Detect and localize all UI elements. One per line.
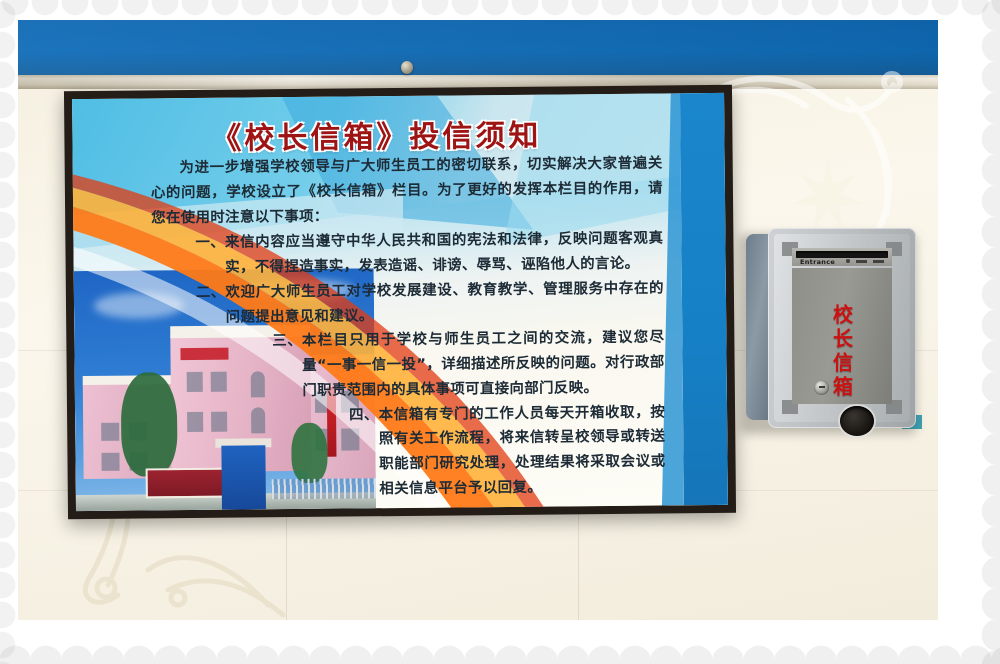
mailbox-slot-label: Entrance <box>800 258 835 266</box>
border-mask <box>0 0 18 664</box>
suggestion-mailbox[interactable]: Entrance 校长信箱 <box>746 228 916 428</box>
notice-item: 二、 欢迎广大师生员工对学校发展建设、教育教学、管理服务中存在的问题提出意见和建… <box>196 276 664 330</box>
screenshot-canvas: 《校长信箱》投信须知 为进一步增强学校领导与广大师生员工的密切联系，切实解决大家… <box>0 0 1000 664</box>
notice-item-number: 三、 <box>272 329 302 404</box>
notice-board[interactable]: 《校长信箱》投信须知 为进一步增强学校领导与广大师生员工的密切联系，切实解决大家… <box>64 85 736 519</box>
notice-body: 为进一步增强学校领导与广大师生员工的密切联系，切实解决大家普遍关心的问题，学校设… <box>151 151 667 511</box>
stamp-perforation-left <box>0 0 20 664</box>
notice-item-number: 二、 <box>196 281 226 331</box>
border-mask <box>938 0 1000 664</box>
stamp-perforation-right <box>958 0 1000 664</box>
window <box>101 453 119 471</box>
notice-item-number: 一、 <box>195 231 225 281</box>
notice-item-text: 本信箱有专门的工作人员每天开箱收取，按照有关工作流程，将来信转呈校领导或转送职能… <box>379 400 666 502</box>
mailbox-frame: Entrance 校长信箱 <box>774 234 910 422</box>
stamp-perforation-top <box>0 0 1000 22</box>
mailbox-label-text: 校长信箱 <box>828 304 857 400</box>
window <box>101 423 119 441</box>
blue-wall-band <box>18 20 938 77</box>
notice-item-number: 四、 <box>349 403 380 502</box>
stamp-perforation-bottom <box>0 624 1000 664</box>
notice-item: 一、 来信内容应当遵守中华人民共和国的宪法和法律，反映问题客观真实，不得捏造事实… <box>195 227 663 281</box>
notice-item: 三、 本栏目只用于学校与师生员工之间的交流，建议您尽量“一事一信一投”，详细描述… <box>272 326 665 404</box>
notice-intro: 为进一步增强学校领导与广大师生员工的密切联系，切实解决大家普遍关心的问题，学校设… <box>151 151 664 230</box>
poster-blue-strip <box>680 93 728 505</box>
mailbox-slot-marks <box>846 259 884 263</box>
slot-dot-icon <box>846 259 850 263</box>
notice-item: 四、 本信箱有专门的工作人员每天开箱收取，按照有关工作流程，将来信转呈校领导或转… <box>349 400 666 502</box>
mailbox-body: Entrance 校长信箱 <box>768 228 916 428</box>
border-mask <box>0 0 1000 20</box>
notice-item-text: 本栏目只用于学校与师生员工之间的交流，建议您尽量“一事一信一投”，详细描述所反映… <box>302 326 665 404</box>
notice-board-poster: 《校长信箱》投信须知 为进一步增强学校领导与广大师生员工的密切联系，切实解决大家… <box>72 93 728 511</box>
slot-mark-icon <box>856 260 867 263</box>
notice-item-text: 欢迎广大师生员工对学校发展建设、教育教学、管理服务中存在的问题提出意见和建议。 <box>225 276 664 330</box>
border-mask <box>0 620 1000 664</box>
lock-keyhole-icon[interactable] <box>814 380 829 395</box>
mailbox-slot-panel[interactable]: Entrance <box>792 248 892 266</box>
notice-item-text: 来信内容应当遵守中华人民共和国的宪法和法律，反映问题客观真实，不得捏造事实，发表… <box>225 227 664 281</box>
mailbox-letter-slot[interactable] <box>796 251 888 258</box>
wall-photograph: 《校长信箱》投信须知 为进一步增强学校领导与广大师生员工的密切联系，切实解决大家… <box>18 20 938 620</box>
wall-screw-icon <box>401 61 413 74</box>
mailbox-door[interactable]: 校长信箱 <box>792 268 892 404</box>
slot-mark-icon <box>873 260 884 263</box>
mailbox-finger-pull-hole[interactable] <box>840 406 874 436</box>
